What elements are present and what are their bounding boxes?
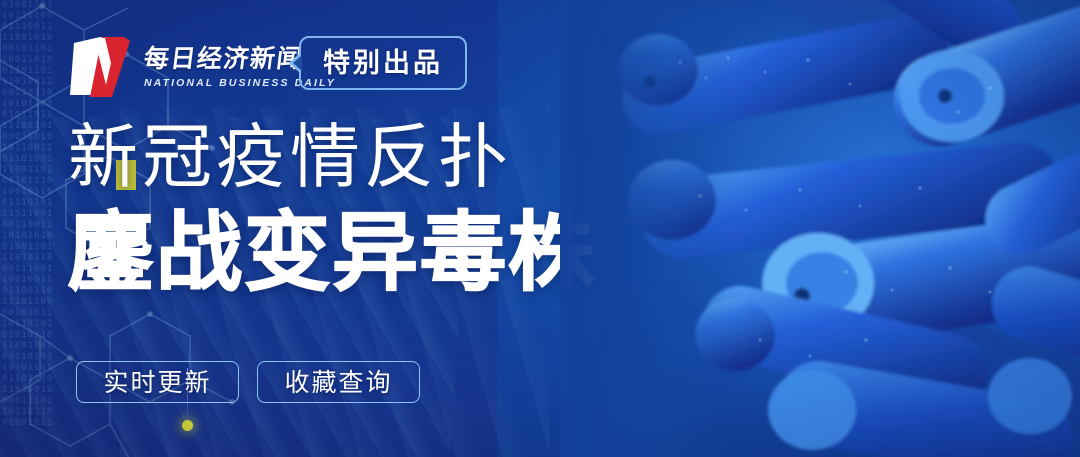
badge-label: 特别出品 bbox=[323, 50, 443, 77]
promo-banner: 01001101 10110100 01110011 11001010 0010… bbox=[0, 0, 1080, 457]
special-edition-badge: 特别出品 bbox=[299, 36, 467, 90]
saved-query-label: 收藏查询 bbox=[284, 370, 392, 395]
artwork-left-fade bbox=[560, 0, 740, 457]
badge-tail-inner bbox=[293, 55, 302, 71]
realtime-update-label: 实时更新 bbox=[103, 370, 211, 395]
saved-query-button[interactable]: 收藏查询 bbox=[257, 361, 420, 403]
nbd-monogram-icon bbox=[68, 33, 134, 101]
realtime-update-button[interactable]: 实时更新 bbox=[76, 361, 239, 403]
cta-button-row: 实时更新 收藏查询 bbox=[76, 361, 420, 403]
